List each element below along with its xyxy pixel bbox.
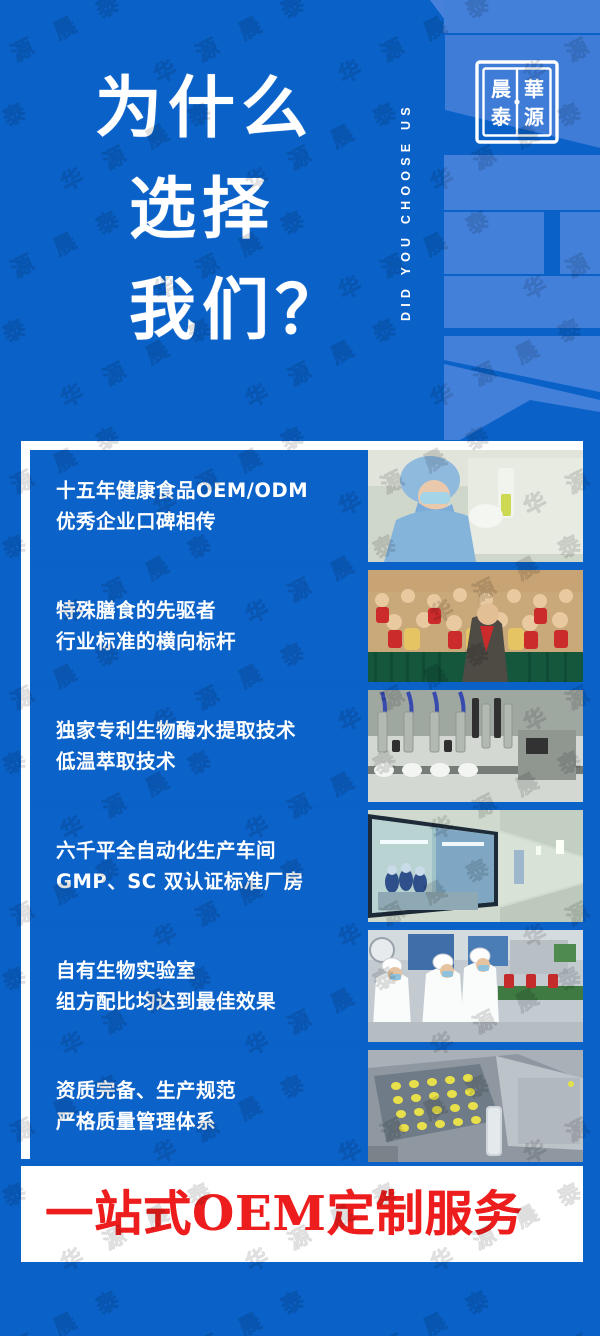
footer-slogan: 一站式OEM定制服务 xyxy=(45,1190,523,1238)
svg-text:泰: 泰 xyxy=(490,105,512,129)
watermark-text: 华 源 晨 泰 xyxy=(332,1278,502,1336)
photo-blister-packing xyxy=(368,1050,583,1162)
list-item: 六千平全自动化生产车间 GMP、SC 双认证标准厂房 xyxy=(30,810,583,922)
title-line-1: 为什么 xyxy=(95,58,395,159)
header: 为什么 选择 我们？ DID YOU CHOOSE US 晨 泰 華 源 xyxy=(0,0,600,440)
feature-line-1: 特殊膳食的先驱者 xyxy=(56,595,360,626)
feature-line-2: GMP、SC 双认证标准厂房 xyxy=(56,866,360,897)
footer-banner: 晨 泰 華 源 一站式OEM定制服务 xyxy=(21,1166,583,1262)
feature-list: 十五年健康食品OEM/ODM 优秀企业口碑相传 xyxy=(30,450,583,1170)
svg-text:華: 華 xyxy=(524,77,544,101)
photo-lab-technician xyxy=(368,450,583,562)
list-item: 自有生物实验室 组方配比均达到最佳效果 xyxy=(30,930,583,1042)
photo-lab-workers xyxy=(368,930,583,1042)
vertical-tagline: DID YOU CHOOSE US xyxy=(399,28,425,396)
feature-line-2: 行业标准的横向标杆 xyxy=(56,626,360,657)
feature-line-1: 资质完备、生产规范 xyxy=(56,1075,360,1106)
feature-line-1: 独家专利生物酶水提取技术 xyxy=(56,715,360,746)
watermark-text: 华 源 晨 泰 xyxy=(517,1278,600,1336)
list-item: 独家专利生物酶水提取技术 低温萃取技术 xyxy=(30,690,583,802)
photo-cleanroom xyxy=(368,810,583,922)
feature-line-1: 自有生物实验室 xyxy=(56,955,360,986)
feature-card-4: 六千平全自动化生产车间 GMP、SC 双认证标准厂房 xyxy=(30,810,360,922)
list-item: 特殊膳食的先驱者 行业标准的横向标杆 xyxy=(30,570,583,682)
watermark-text: 华 源 晨 泰 xyxy=(147,1278,317,1336)
feature-card-2: 特殊膳食的先驱者 行业标准的横向标杆 xyxy=(30,570,360,682)
svg-text:源: 源 xyxy=(524,105,544,129)
page-title: 为什么 选择 我们？ xyxy=(95,58,395,361)
feature-line-2: 组方配比均达到最佳效果 xyxy=(56,986,360,1017)
feature-line-1: 六千平全自动化生产车间 xyxy=(56,835,360,866)
feature-card-5: 自有生物实验室 组方配比均达到最佳效果 xyxy=(30,930,360,1042)
svg-text:晨: 晨 xyxy=(491,77,512,101)
list-item: 十五年健康食品OEM/ODM 优秀企业口碑相传 xyxy=(30,450,583,562)
list-item: 资质完备、生产规范 严格质量管理体系 xyxy=(30,1050,583,1162)
feature-line-2: 低温萃取技术 xyxy=(56,746,360,777)
photo-conference xyxy=(368,570,583,682)
photo-filling-line xyxy=(368,690,583,802)
feature-line-1: 十五年健康食品OEM/ODM xyxy=(56,475,360,506)
brand-seal-icon: 晨 泰 華 源 xyxy=(471,56,563,148)
feature-line-2: 优秀企业口碑相传 xyxy=(56,506,360,537)
poster-root: 为什么 选择 我们？ DID YOU CHOOSE US 晨 泰 華 源 xyxy=(0,0,600,1336)
feature-card-3: 独家专利生物酶水提取技术 低温萃取技术 xyxy=(30,690,360,802)
title-line-3: 我们？ xyxy=(129,260,395,361)
watermark-text: 华 源 晨 泰 xyxy=(0,1278,132,1336)
feature-card-6: 资质完备、生产规范 严格质量管理体系 xyxy=(30,1050,360,1162)
feature-card-1: 十五年健康食品OEM/ODM 优秀企业口碑相传 xyxy=(30,450,360,562)
feature-line-2: 严格质量管理体系 xyxy=(56,1106,360,1137)
title-line-2: 选择 xyxy=(129,159,395,260)
